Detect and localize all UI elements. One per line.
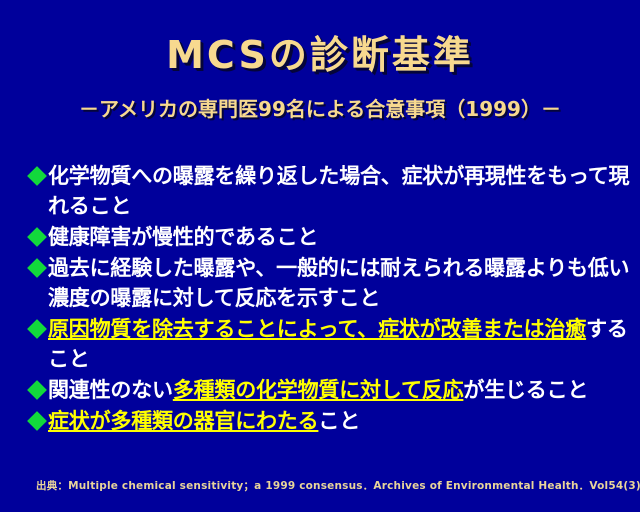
list-item-text: 症状が多種類の器官にわたること	[48, 406, 630, 436]
diamond-bullet-icon	[27, 166, 47, 186]
plain-text: 関連性のない	[48, 378, 173, 402]
criteria-list: 化学物質への曝露を繰り返した場合、症状が再現性をもって現れること 健康障害が慢性…	[30, 161, 630, 437]
diamond-bullet-icon	[27, 319, 47, 339]
list-item: 原因物質を除去することによって、症状が改善または治癒すること	[30, 314, 630, 374]
diamond-bullet-icon	[27, 258, 47, 278]
list-item-text: 健康障害が慢性的であること	[48, 222, 630, 252]
list-item-text: 原因物質を除去することによって、症状が改善または治癒すること	[48, 314, 630, 374]
list-item: 過去に経験した曝露や、一般的には耐えられる曝露よりも低い濃度の曝露に対して反応を…	[30, 253, 630, 313]
plain-text: 健康障害が慢性的であること	[48, 225, 318, 249]
title-area: MCSの診断基準 －アメリカの専門医99名による合意事項（1999）－	[0, 34, 640, 122]
diamond-bullet-icon	[27, 227, 47, 247]
list-item-text: 過去に経験した曝露や、一般的には耐えられる曝露よりも低い濃度の曝露に対して反応を…	[48, 253, 630, 313]
source-citation: 出典：Multiple chemical sensitivity；a 1999 …	[36, 478, 626, 493]
list-item: 症状が多種類の器官にわたること	[30, 406, 630, 436]
list-item: 化学物質への曝露を繰り返した場合、症状が再現性をもって現れること	[30, 161, 630, 221]
plain-text: こと	[318, 409, 360, 433]
page-title: MCSの診断基準	[0, 34, 640, 78]
diamond-bullet-icon	[27, 380, 47, 400]
plain-text: 過去に経験した曝露や、一般的には耐えられる曝露よりも低い濃度の曝露に対して反応を…	[48, 256, 629, 310]
list-item-text: 化学物質への曝露を繰り返した場合、症状が再現性をもって現れること	[48, 161, 630, 221]
list-item: 関連性のない多種類の化学物質に対して反応が生じること	[30, 375, 630, 405]
highlighted-text: 原因物質を除去することによって、症状が改善または治癒	[48, 317, 586, 341]
list-item-text: 関連性のない多種類の化学物質に対して反応が生じること	[48, 375, 630, 405]
slide-canvas: MCSの診断基準 －アメリカの専門医99名による合意事項（1999）－ 化学物質…	[0, 0, 640, 512]
plain-text: 化学物質への曝露を繰り返した場合、症状が再現性をもって現れること	[48, 164, 629, 218]
plain-text: が生じること	[463, 378, 588, 402]
highlighted-text: 症状が多種類の器官にわたる	[48, 409, 318, 433]
page-subtitle: －アメリカの専門医99名による合意事項（1999）－	[0, 93, 640, 122]
highlighted-text: 多種類の化学物質に対して反応	[173, 378, 464, 402]
list-item: 健康障害が慢性的であること	[30, 222, 630, 252]
diamond-bullet-icon	[27, 411, 47, 431]
